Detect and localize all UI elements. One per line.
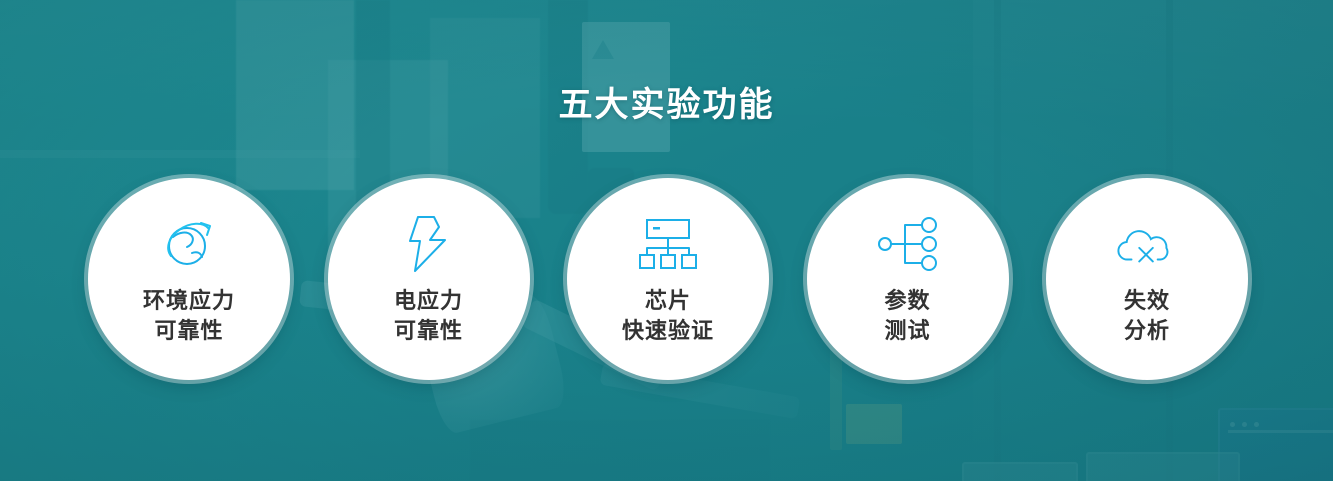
feature-label: 失效 分析: [1124, 286, 1170, 346]
feature-circle-electrical-stress[interactable]: 电应力 可靠性: [328, 178, 530, 380]
feature-label: 环境应力 可靠性: [143, 286, 235, 346]
feature-circle-chip-validation[interactable]: 芯片 快速验证: [567, 178, 769, 380]
feature-label-line1: 参数: [884, 288, 930, 313]
feature-label-line2: 可靠性: [143, 316, 235, 346]
feature-label-line2: 分析: [1124, 316, 1170, 346]
lightning-bolt-icon: [398, 214, 460, 274]
feature-circle-row: 环境应力 可靠性 电应力 可靠性: [88, 178, 1248, 381]
feature-label-line2: 测试: [884, 316, 930, 346]
feature-label-line2: 可靠性: [394, 316, 463, 346]
feature-circle-environmental-stress[interactable]: 环境应力 可靠性: [88, 178, 290, 380]
feature-circle-parameter-test[interactable]: 参数 测试: [807, 178, 1009, 380]
feature-label: 电应力 可靠性: [394, 286, 463, 346]
feature-label: 参数 测试: [884, 286, 930, 346]
feature-label-line1: 电应力: [394, 288, 463, 313]
globe-orbit-icon: [158, 214, 220, 274]
node-branch-icon: [877, 214, 939, 274]
feature-label-line1: 芯片: [645, 288, 691, 313]
chip-hierarchy-icon: [637, 214, 699, 274]
feature-circle-failure-analysis[interactable]: 失效 分析: [1046, 178, 1248, 380]
feature-label-line1: 环境应力: [143, 288, 235, 313]
cloud-x-icon: [1116, 214, 1178, 274]
page-title: 五大实验功能: [0, 82, 1333, 128]
feature-label-line1: 失效: [1124, 288, 1170, 313]
five-lab-functions-banner: 五大实验功能 环境应力 可靠性: [0, 0, 1333, 481]
feature-label: 芯片 快速验证: [622, 286, 714, 346]
feature-label-line2: 快速验证: [622, 316, 714, 346]
